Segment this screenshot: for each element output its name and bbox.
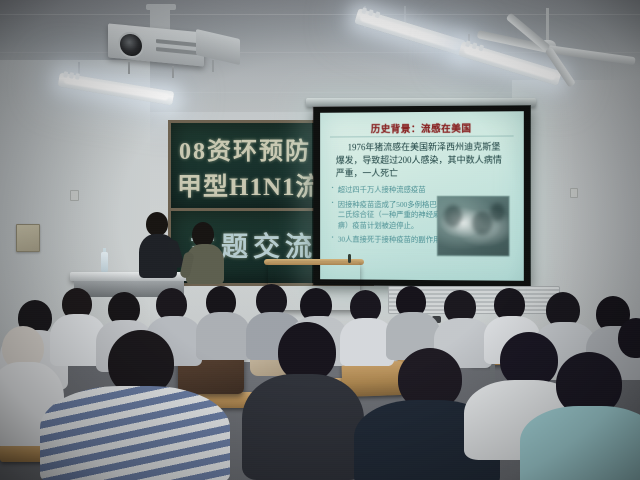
slide-bullet: 超过四千万人接种流感疫苗 [330,185,441,196]
light-end-cap [375,11,381,18]
projector-vent [156,39,198,47]
projector-ceiling-mount [150,8,170,30]
blackboard-line-1: 08资环预防 [179,131,311,166]
photo-figure [490,203,504,221]
student-torso [196,312,250,360]
ceiling-seam [0,14,640,15]
podium-microphone [348,254,351,263]
light-end-cap [368,9,374,16]
fan-downrod [546,8,549,42]
light-end-cap [361,7,367,14]
classroom-photo: 08资环预防 甲型H1N1流感 主题交流会 历史背景：流感在美国 1976年猪流… [0,0,640,480]
photo-figure [472,211,492,235]
slide-photo [437,196,510,256]
water-bottle [101,252,108,273]
light-switch [70,190,79,201]
light-switch [570,188,578,198]
student-torso-striped [40,386,230,480]
slide-bullet-list: 超过四千万人接种流感疫苗 因接种疫苗造成了500多例格巴二氏综合征（一种严重的神… [330,185,441,250]
projector-bracket [172,66,174,78]
slide-bullet: 30人直接死于接种疫苗的副作用 [330,235,441,246]
projector-vent [156,47,198,55]
photo-figure [444,205,462,227]
slide-bullet: 因接种疫苗造成了500多例格巴二氏综合征（一种严重的神经麻痹）疫苗计划被迫停止。 [330,199,441,231]
student-head [278,322,336,382]
student-torso [242,374,364,480]
slide-paragraph: 1976年猪流感在美国新泽西州迪克斯堡爆发，导致超过200人感染，其中数人病情严… [336,141,508,181]
slide-divider [330,135,514,137]
projector-bracket [128,62,130,74]
student-torso [520,406,640,480]
projector-bracket [212,60,214,72]
projector-mount-plate [146,4,176,10]
presenter-head [146,212,168,236]
slide-title: 历史背景：流感在美国 [334,120,510,135]
wall-control-box [16,224,40,252]
